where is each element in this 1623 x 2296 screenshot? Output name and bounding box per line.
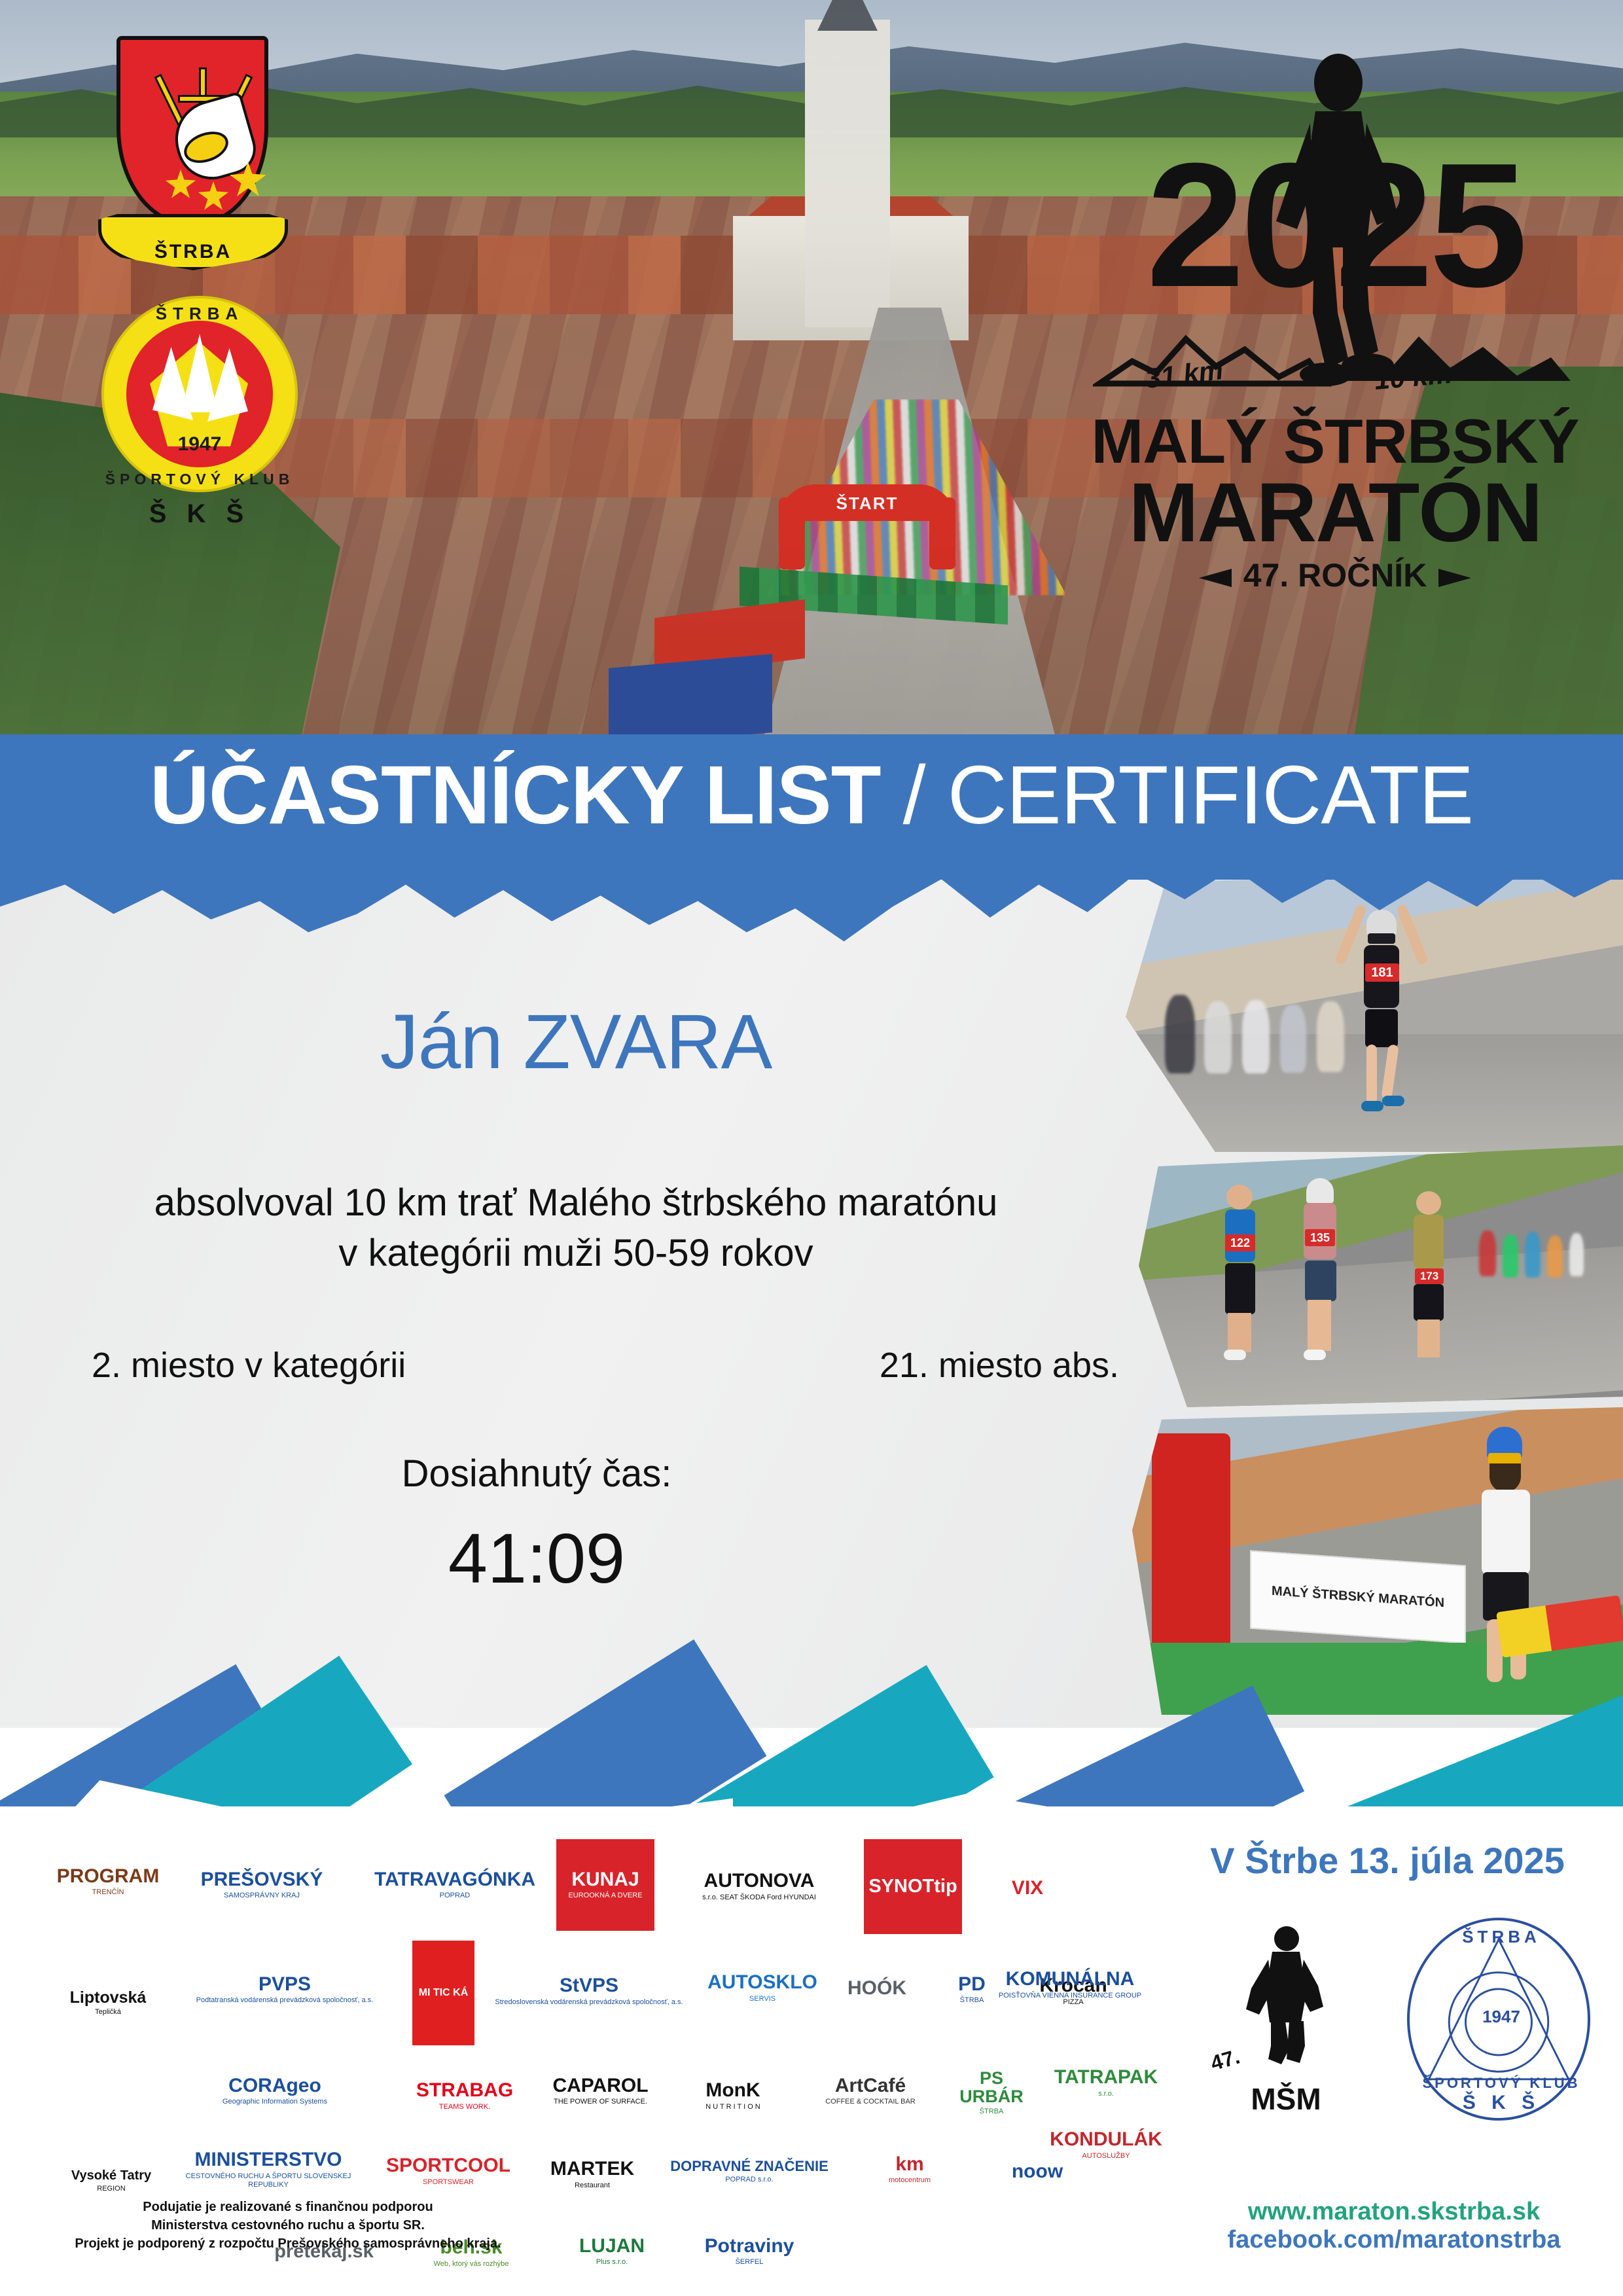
title-bold: ÚČASTNÍCKY LIST [150,749,881,841]
crest-star-icon [165,170,196,201]
runner-bib-number: 122 [1225,1234,1255,1251]
sponsor-logo: MonKN U T R I T I O N [668,2058,798,2134]
sponsor-name: AUTOSKLOSERVIS [707,1972,817,2003]
marathon-logo: 2025 31 km 10 km MALÝ ŠTRBSKÝ MARATÓN 47… [1067,39,1603,589]
participant-name: Ján ZVARA [0,997,1152,1086]
website-link[interactable]: www.maraton.skstrba.sk [1171,2198,1616,2226]
footer: PROGRAMTRENČÍNPREŠOVSKÝSAMOSPRÁVNY KRAJT… [0,1806,1623,2296]
runner-bib-number: 173 [1415,1268,1444,1284]
sponsor-logo: AUTONOVAs.r.o. SEAT ŠKODA Ford HYUNDAI [668,1839,851,1934]
sponsor-name: HOÓK [847,1978,906,1999]
sks-abbrev: Š K Š [1410,2092,1593,2114]
sponsor-logo: PROGRAMTRENČÍN [59,1833,157,1931]
sponsor-name: kmmotocentrum [889,2154,931,2185]
sponsor-name: CORAgeoGeographic Information Systems [223,2075,327,2107]
sk-strba-club-logo: ŠTRBA 1947 ŠPORTOVÝ KLUB Š K Š [101,296,298,492]
crest-ribbon-text: ŠTRBA [154,241,232,267]
sponsor-logo: STRABAGTEAMS WORK. [396,2062,533,2130]
club-arc-bottom: ŠPORTOVÝ KLUB [101,471,298,488]
issue-date: V Štrbe 13. júla 2025 [1171,1839,1603,1882]
finish-banner-text: MALÝ ŠTRBSKÝ MARATÓN [1250,1550,1466,1643]
web-links: www.maraton.skstrba.sk facebook.com/mara… [1171,2198,1616,2254]
msm-emblem: 47. MŠM [1204,1918,1368,2121]
funding-note-line-1: Podujatie je realizované s finančnou pod… [39,2198,537,2216]
msm-abbrev: MŠM [1204,2081,1368,2117]
sponsor-name: CAPAROLTHE POWER OF SURFACE. [552,2075,648,2107]
sponsor-name: MARTEKRestaurant [550,2159,634,2190]
sponsor-name: ArtCaféCOFFEE & COCKTAIL BAR [825,2075,916,2107]
sponsor-logo: SPORTCOOLSPORTSWEAR [380,2140,517,2202]
crest-star-icon [198,181,229,213]
category-place: 2. miesto v kategórii [92,1345,406,1386]
placements: 2. miesto v kategórii 21. miesto abs. [92,1345,1119,1386]
sponsor-logo: SYNOTtip [864,1839,962,1934]
photo-collage: 181 122 135 173 [1126,870,1623,1715]
sponsor-logo: PVPSPodtatranská vodárenská prevádzková … [170,1947,399,2032]
absolute-place: 21. miesto abs. [880,1345,1119,1386]
sponsor-logo: CORAgeoGeographic Information Systems [170,2052,380,2130]
sponsor-logo: StVPSStredoslovenská vodárenská prevádzk… [491,1947,687,2036]
sponsor-name: DOPRAVNÉ ZNAČENIEPOPRAD s.r.o. [670,2159,829,2185]
description-line-1: absolvoval 10 km trať Malého štrbského m… [0,1178,1152,1229]
sponsor-name: VIX [1012,1878,1043,1899]
club-year: 1947 [101,433,298,456]
sponsor-name: KOMUNÁLNAPOISŤOVŇA VIENNA INSURANCE GROU… [999,1969,1141,2000]
sponsor-logo: LUJANPlus s.r.o. [556,2222,668,2281]
sponsor-logo: TATRAPAKs.r.o. [1047,2052,1165,2114]
sponsor-name: TATRAPAKs.r.o. [1054,2067,1158,2098]
sponsor-name: PS URBÁRŠTRBA [946,2069,1037,2117]
time-value: 41:09 [0,1517,1073,1599]
sponsor-name: StVPSStredoslovenská vodárenská prevádzk… [495,1975,683,2007]
sponsor-logo: MI TIC KÁ [412,1941,474,2045]
sponsor-logo: MINISTERSTVOCESTOVNÉHO RUCHU A ŠPORTU SL… [170,2134,366,2206]
sponsor-name: TATRAVAGÓNKAPOPRAD [374,1869,535,1901]
sponsor-name: MonKN U T R I T I O N [705,2080,760,2111]
sponsor-logo: HOÓK [834,1950,919,2026]
marathon-title-line2: MARATÓN [1067,465,1603,561]
runner-bib-number: 135 [1305,1229,1335,1246]
sponsor-logo: PREŠOVSKÝSAMOSPRÁVNY KRAJ [173,1846,350,1924]
sponsor-name: PREŠOVSKÝSAMOSPRÁVNY KRAJ [201,1869,323,1901]
sponsor-name: PROGRAMTRENČÍN [57,1866,160,1897]
crest-ribbon: ŠTRBA [98,214,288,270]
sponsor-logo: PotravinyŠERFEL [687,2222,811,2281]
sponsor-logo: DOPRAVNÉ ZNAČENIEPOPRAD s.r.o. [668,2144,831,2199]
sponsor-logo: LiptovskáTepličká [59,1944,157,2062]
sponsor-logo: KUNAJEUROOKNÁ A DVERE [556,1839,654,1931]
sponsor-logo: KOMUNÁLNAPOISŤOVŇA VIENNA INSURANCE GROU… [975,1947,1165,2022]
sponsor-logo: MARTEKRestaurant [537,2134,648,2215]
sponsor-name: LUJANPlus s.r.o. [579,2236,645,2267]
photo-finish-female-runner: 181 [1126,870,1623,1152]
sponsor-name: Vysoké TatryREGION [71,2169,151,2194]
arrow-right-icon [1438,569,1471,587]
title-separator: / [881,749,948,841]
sponsor-name: AUTONOVAs.r.o. SEAT ŠKODA Ford HYUNDAI [702,1871,816,1902]
title-normal: CERTIFICATE [948,749,1473,841]
sponsor-logo: CAPAROLTHE POWER OF SURFACE. [546,2049,654,2134]
funding-note: Podujatie je realizované s finančnou pod… [39,2198,537,2253]
certificate-description: absolvoval 10 km trať Malého štrbského m… [0,1178,1152,1278]
club-abbrev: Š K Š [101,499,298,529]
runner-bib-number: 181 [1365,963,1399,982]
sponsor-logo: VIX [975,1839,1080,1937]
runner-figure: 181 [1342,910,1420,1119]
sponsor-logo: noow [988,2147,1086,2196]
sponsor-name: noow [1012,2161,1063,2182]
sks-top-text: ŠTRBA [1410,1927,1593,1947]
funding-note-line-3: Projekt je podporený z rozpočtu Prešovsk… [39,2234,537,2253]
sponsor-name: KUNAJEUROOKNÁ A DVERE [568,1869,642,1901]
running-man-icon [1243,1924,1329,2068]
marathon-edition: 47. ROČNÍK [1067,556,1603,594]
crest-shield [116,36,268,226]
sks-bottom-text: ŠPORTOVÝ KLUB [1410,2075,1593,2092]
runner-figure: 122 [1211,1185,1270,1368]
sks-emblem: ŠTRBA 1947 ŠPORTOVÝ KLUB Š K Š [1407,1918,1590,2121]
sponsor-logo: ArtCaféCOFFEE & COCKTAIL BAR [808,2049,933,2134]
sponsor-name: PVPSPodtatranská vodárenská prevádzková … [196,1974,374,2005]
runner-figure: 135 [1289,1178,1351,1374]
description-line-2: v kategórii muži 50-59 rokov [0,1229,1152,1279]
running-man-icon [1270,51,1407,391]
sponsor-name: SYNOTtip [868,1876,957,1896]
sponsor-name: PotravinyŠERFEL [705,2236,794,2267]
sks-year: 1947 [1410,2007,1593,2027]
sponsor-logo: TATRAVAGÓNKAPOPRAD [366,1849,543,1921]
sponsor-name: MI TIC KÁ [419,1988,469,1999]
strba-coat-of-arms: ŠTRBA [98,36,288,272]
sponsor-logo: PS URBÁRŠTRBA [946,2049,1037,2137]
arrow-left-icon [1199,569,1232,587]
sponsor-name: MINISTERSTVOCESTOVNÉHO RUCHU A ŠPORTU SL… [170,2149,366,2190]
sponsor-name: SPORTCOOLSPORTSWEAR [386,2155,510,2187]
sponsor-name: LiptovskáTepličká [70,1989,147,2017]
facebook-link[interactable]: facebook.com/maratonstrba [1171,2226,1616,2254]
sponsor-logo: AUTOSKLOSERVIS [700,1954,825,2022]
msm-edition: 47. [1208,2045,1243,2076]
page-title: ÚČASTNÍCKY LIST / CERTIFICATE [0,754,1623,836]
club-arc-top: ŠTRBA [101,304,298,324]
photo-runners-on-course: 122 135 173 [1139,1145,1623,1407]
runner-figure: 173 [1400,1191,1458,1368]
sponsor-name: STRABAGTEAMS WORK. [416,2080,513,2111]
sponsor-logo: kmmotocentrum [851,2137,969,2202]
funding-note-line-2: Ministerstva cestovného ruchu a športu S… [39,2216,537,2234]
time-label: Dosiahnutý čas: [0,1452,1073,1496]
